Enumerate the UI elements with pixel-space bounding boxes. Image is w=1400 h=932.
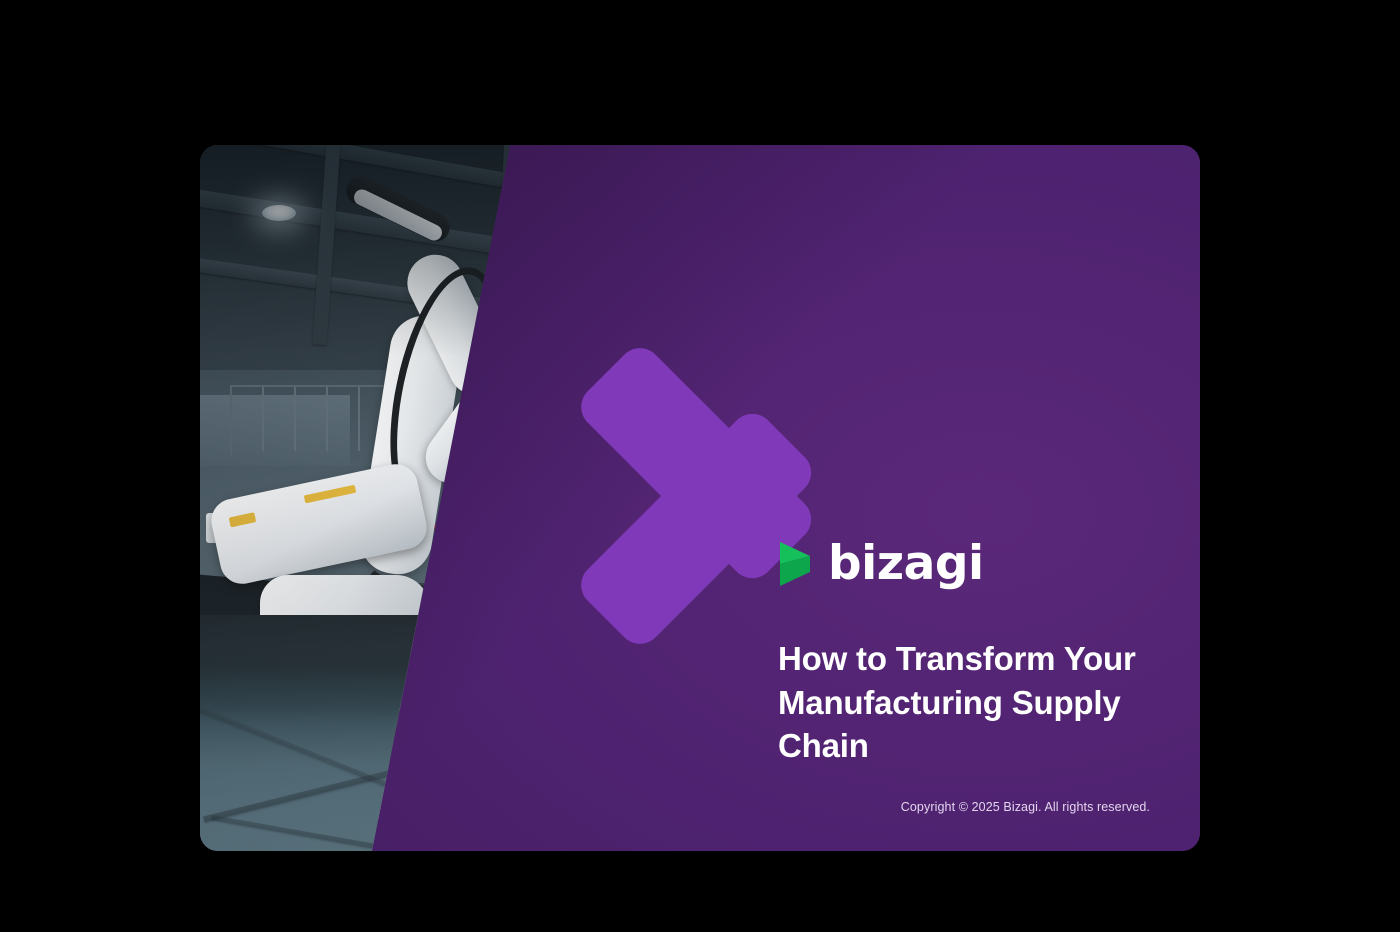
cover-content: bizagi How to Transform Your Manufacturi…: [778, 145, 1178, 851]
bizagi-logo[interactable]: bizagi: [778, 540, 984, 587]
ebook-cover-card: bizagi How to Transform Your Manufacturi…: [200, 145, 1200, 851]
bizagi-wordmark: bizagi: [828, 540, 984, 587]
bizagi-chevron-logo-icon: [778, 541, 812, 587]
copyright-notice: Copyright © 2025 Bizagi. All rights rese…: [778, 800, 1150, 814]
page-title: How to Transform Your Manufacturing Supp…: [778, 637, 1150, 768]
